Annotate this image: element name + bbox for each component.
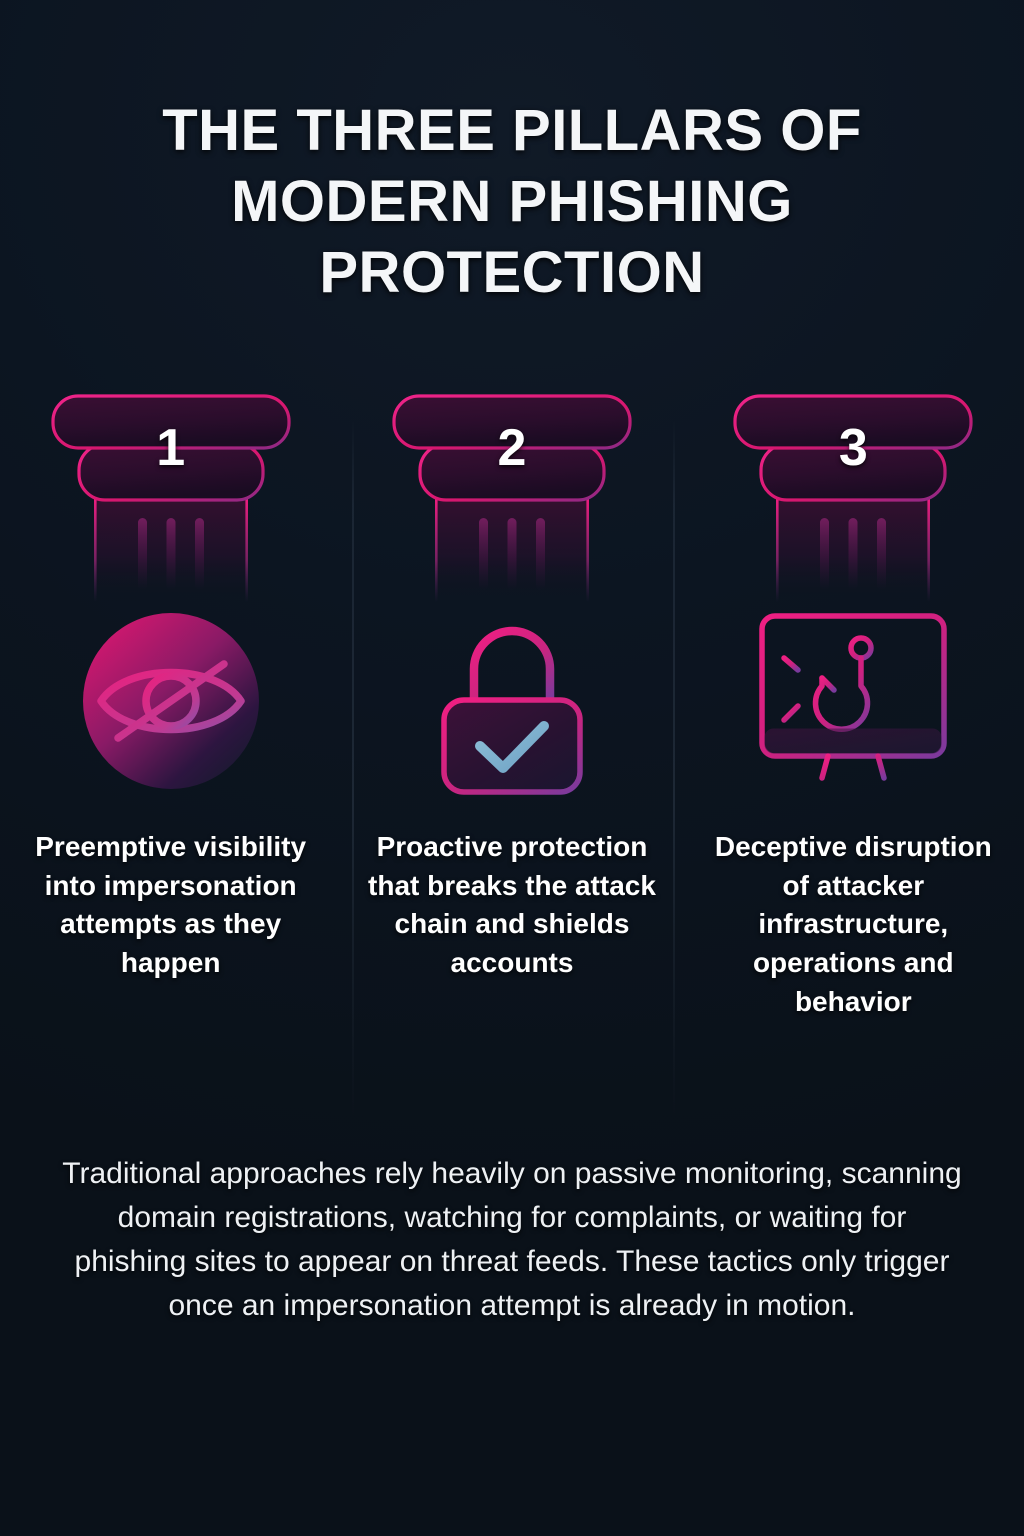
pillars-row: 1 (0, 392, 1024, 1021)
pillar-graphic-1: 1 (51, 392, 291, 602)
pillar-caption-1: Preemptive visibility into impersonation… (21, 828, 321, 983)
pillar-caption-3: Deceptive disruption of attacker infrast… (703, 828, 1003, 1021)
pillar-column-1: 1 (0, 392, 341, 1021)
padlock-check-icon (412, 606, 612, 796)
pillar-column-3: 3 (683, 392, 1024, 1021)
monitor-phishing-hook-icon (753, 606, 953, 796)
pillar-graphic-3: 3 (733, 392, 973, 602)
eye-slash-icon (71, 606, 271, 796)
pillar-graphic-2: 2 (392, 392, 632, 602)
pillar-caption-2: Proactive protection that breaks the att… (362, 828, 662, 983)
page-title: THE THREE PILLARS OF MODERN PHISHING PRO… (60, 96, 964, 308)
pillar-column-2: 2 (341, 392, 682, 1021)
infographic-canvas: THE THREE PILLARS OF MODERN PHISHING PRO… (0, 0, 1024, 1536)
footer-paragraph: Traditional approaches rely heavily on p… (62, 1152, 962, 1328)
